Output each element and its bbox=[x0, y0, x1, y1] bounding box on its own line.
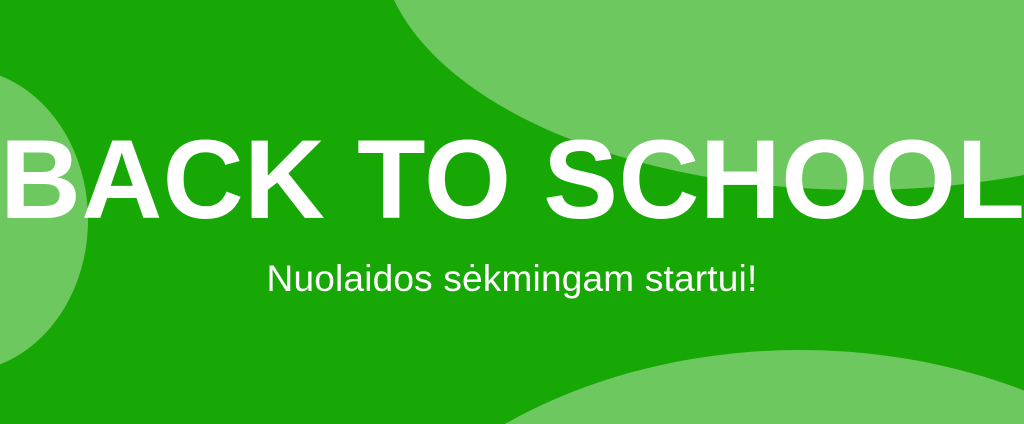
back-to-school-banner: BACK TO SCHOOL Nuolaidos sėkmingam start… bbox=[0, 0, 1024, 424]
banner-subheadline: Nuolaidos sėkmingam startui! bbox=[0, 258, 1024, 300]
banner-headline: BACK TO SCHOOL bbox=[0, 124, 1024, 236]
banner-content: BACK TO SCHOOL Nuolaidos sėkmingam start… bbox=[0, 0, 1024, 424]
